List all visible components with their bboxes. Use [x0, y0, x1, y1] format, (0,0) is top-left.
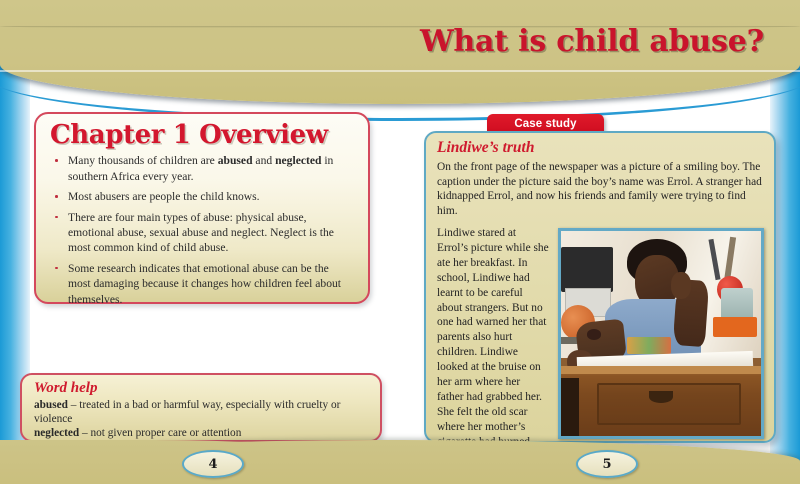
word-help-entry: neglected – not given proper care or att…: [34, 426, 368, 440]
chapter-overview-list: Many thousands of children are abused an…: [50, 153, 354, 307]
list-item: Many thousands of children are abused an…: [50, 153, 354, 184]
case-study-box: Lindiwe’s truth On the front page of the…: [424, 131, 776, 443]
word-help-title: Word help: [34, 380, 368, 397]
word-help-box: Word help abused – treated in a bad or h…: [20, 373, 382, 442]
word-help-entry: abused – treated in a bad or harmful way…: [34, 398, 368, 427]
textbook-spread: What is child abuse? Chapter 1 Overview …: [0, 0, 800, 484]
list-item: Some research indicates that emotional a…: [50, 261, 354, 307]
case-study-title: Lindiwe’s truth: [437, 139, 764, 156]
chapter-overview-title: Chapter 1 Overview: [50, 122, 354, 149]
page-number-left: 4: [182, 450, 244, 478]
case-study-body: Lindiwe stared at Errol’s picture while …: [437, 226, 764, 465]
list-item: Most abusers are people the child knows.: [50, 189, 354, 204]
page-number-right: 5: [576, 450, 638, 478]
case-study-intro: On the front page of the newspaper was a…: [437, 160, 764, 219]
list-item: There are four main types of abuse: phys…: [50, 210, 354, 256]
page-title: What is child abuse?: [420, 24, 764, 59]
chapter-overview-box: Chapter 1 Overview Many thousands of chi…: [34, 112, 370, 304]
